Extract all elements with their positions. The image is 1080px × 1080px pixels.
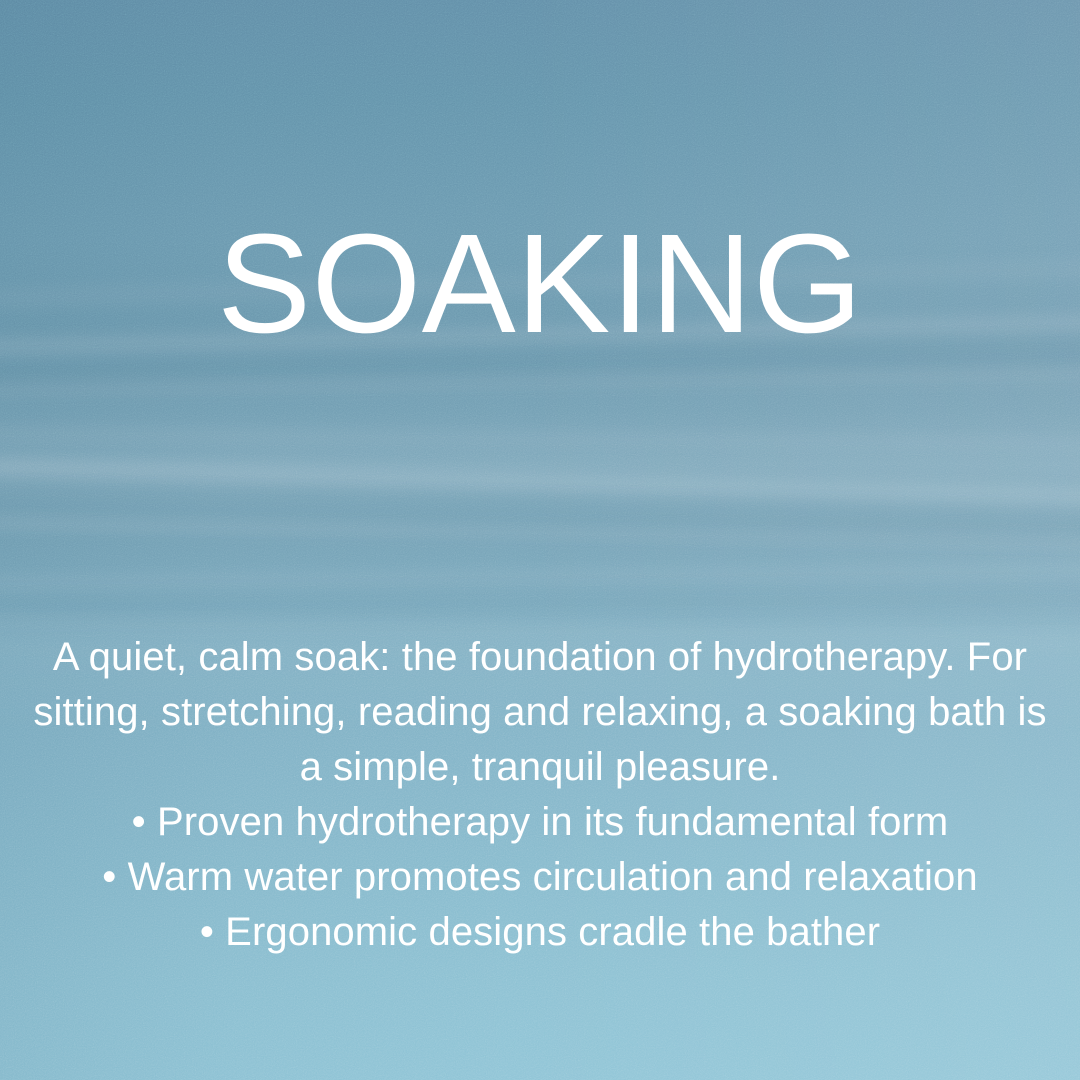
list-item-label: Warm water promotes circulation and rela… (128, 855, 978, 899)
page-title: SOAKING (0, 213, 1080, 354)
bullet-icon: • (200, 910, 214, 954)
list-item: • Ergonomic designs cradle the bather (27, 905, 1053, 960)
list-item: • Warm water promotes circulation and re… (27, 850, 1053, 905)
list-item-label: Ergonomic designs cradle the bather (225, 910, 880, 954)
list-item: • Proven hydrotherapy in its fundamental… (27, 795, 1053, 850)
bullet-icon: • (102, 855, 116, 899)
list-item-label: Proven hydrotherapy in its fundamental f… (157, 800, 948, 844)
bullet-icon: • (132, 800, 146, 844)
poster-body: A quiet, calm soak: the foundation of hy… (27, 630, 1053, 960)
benefits-list: • Proven hydrotherapy in its fundamental… (27, 795, 1053, 960)
soaking-poster: SOAKING A quiet, calm soak: the foundati… (0, 0, 1080, 1080)
lead-paragraph: A quiet, calm soak: the foundation of hy… (27, 630, 1053, 795)
poster-content: SOAKING A quiet, calm soak: the foundati… (0, 0, 1080, 1080)
